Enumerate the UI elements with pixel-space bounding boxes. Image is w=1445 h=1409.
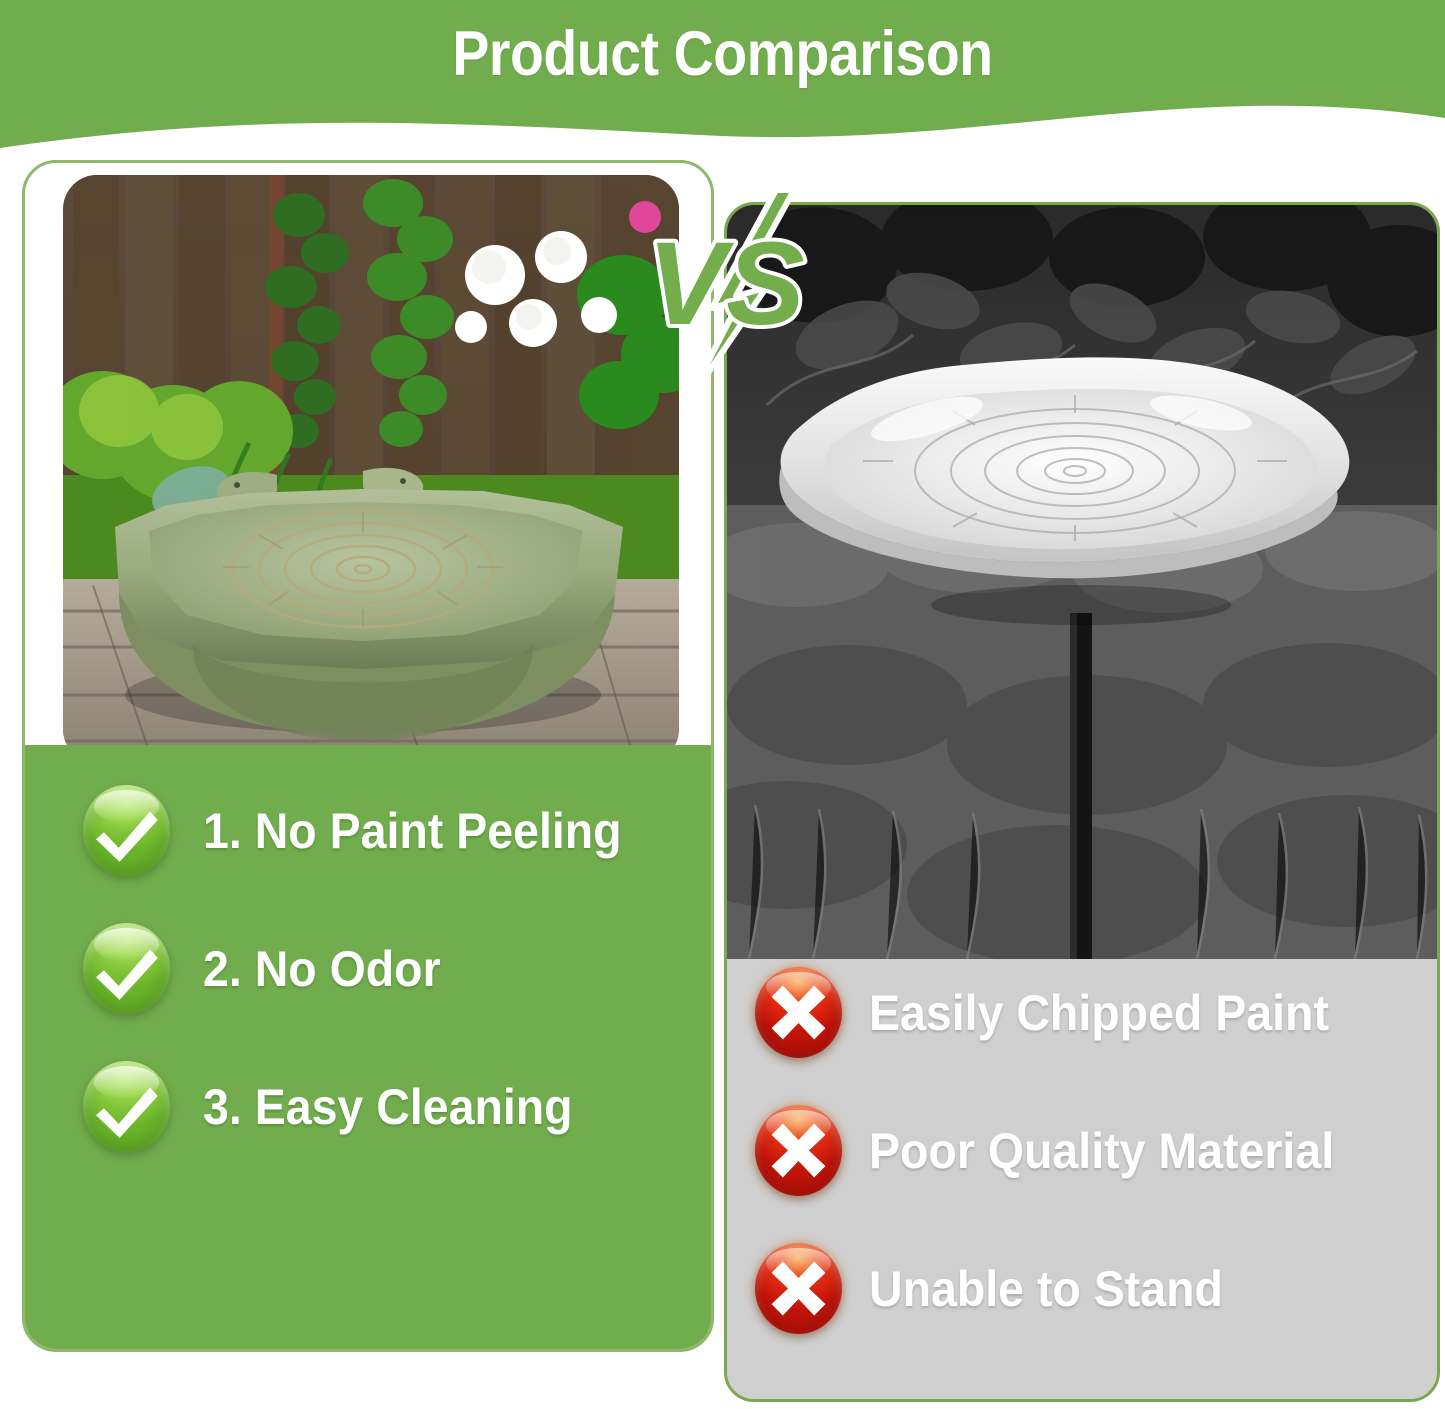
check-icon xyxy=(83,923,170,1014)
cross-icon xyxy=(755,1105,842,1196)
list-item-label: 2. No Odor xyxy=(203,940,441,998)
right-drawback-list: Easily Chipped Paint Poor Quality Materi… xyxy=(727,959,1437,1399)
page-header: Product Comparison xyxy=(0,0,1445,148)
list-item: 1. No Paint Peeling xyxy=(83,785,714,876)
left-product-panel: 1. No Paint Peeling 2. No Odor 3. Easy C… xyxy=(22,160,714,1352)
left-product-photo xyxy=(63,175,679,763)
check-icon xyxy=(83,785,170,876)
list-item: Unable to Stand xyxy=(755,1243,1440,1334)
cross-icon xyxy=(755,1243,842,1334)
right-product-panel: Easily Chipped Paint Poor Quality Materi… xyxy=(724,202,1440,1402)
list-item-label: Unable to Stand xyxy=(869,1260,1223,1318)
cross-icon xyxy=(755,967,842,1058)
list-item: Poor Quality Material xyxy=(755,1105,1440,1196)
right-product-photo xyxy=(727,205,1437,959)
list-item-label: Easily Chipped Paint xyxy=(869,984,1329,1042)
list-item: 2. No Odor xyxy=(83,923,714,1014)
glass-birdbath-photo-illustration xyxy=(727,205,1437,959)
list-item-label: 3. Easy Cleaning xyxy=(203,1078,573,1136)
list-item: 3. Easy Cleaning xyxy=(83,1061,714,1152)
check-icon xyxy=(83,1061,170,1152)
list-item-label: Poor Quality Material xyxy=(869,1122,1334,1180)
list-item-label: 1. No Paint Peeling xyxy=(203,802,622,860)
green-birdbath-photo-illustration xyxy=(63,175,679,763)
page-title: Product Comparison xyxy=(87,18,1359,90)
list-item: Easily Chipped Paint xyxy=(755,967,1440,1058)
left-benefit-list: 1. No Paint Peeling 2. No Odor 3. Easy C… xyxy=(25,745,711,1349)
